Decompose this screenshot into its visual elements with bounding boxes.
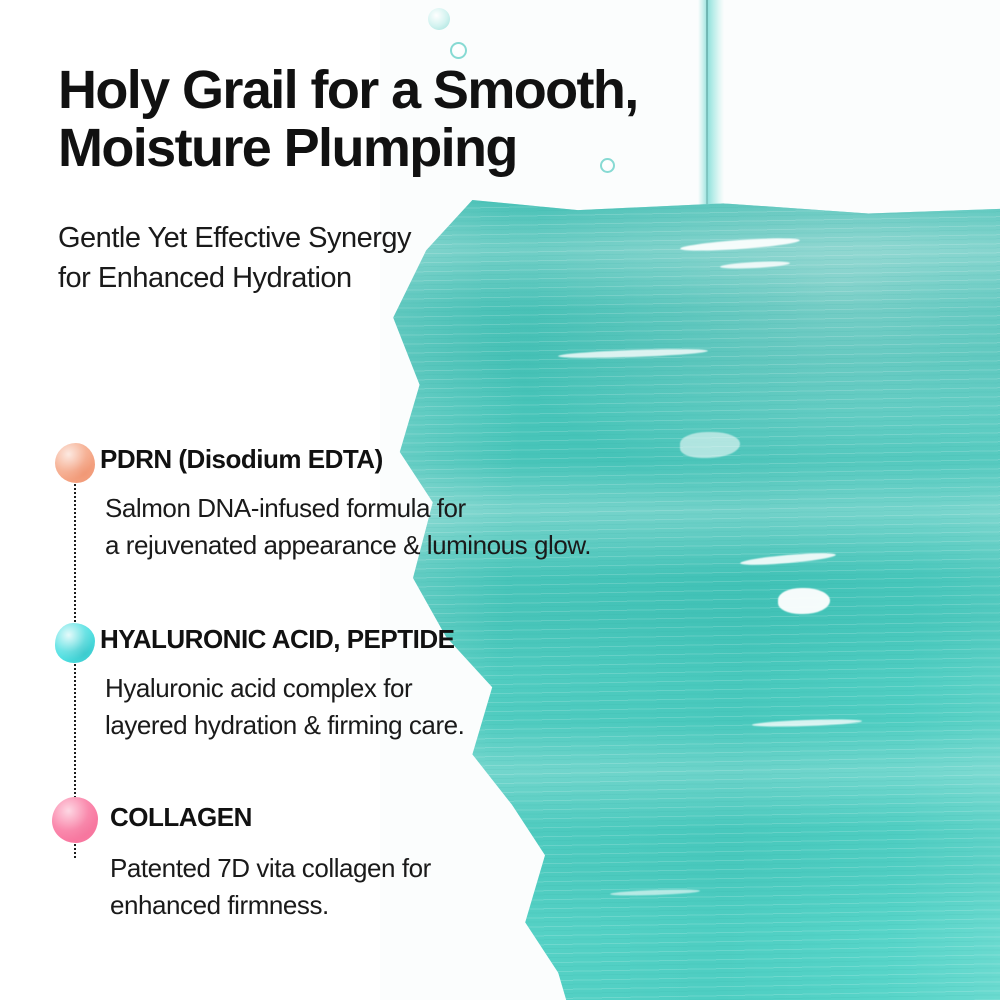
- ingredient-item-pdrn: PDRN (Disodium EDTA) Salmon DNA-infused …: [0, 440, 720, 620]
- ingredient-description: Salmon DNA-infused formula for a rejuven…: [105, 490, 725, 564]
- ingredient-description: Patented 7D vita collagen for enhanced f…: [110, 850, 730, 924]
- pink-blob-icon: [52, 797, 98, 843]
- headline-line-2: Moisture Plumping: [58, 120, 818, 178]
- ingredient-title: COLLAGEN: [110, 802, 252, 833]
- water-bubble: [450, 42, 467, 59]
- water-bubble: [428, 8, 450, 30]
- ingredient-description-line-1: Hyaluronic acid complex for: [105, 670, 725, 707]
- subheadline-line-1: Gentle Yet Effective Synergy: [58, 218, 578, 258]
- ingredient-description-line-2: layered hydration & firming care.: [105, 707, 725, 744]
- peach-blob-shape: [55, 443, 95, 483]
- ingredient-title: HYALURONIC ACID, PEPTIDE: [100, 624, 454, 655]
- ingredient-description-line-1: Patented 7D vita collagen for: [110, 850, 730, 887]
- headline-line-1: Holy Grail for a Smooth,: [58, 62, 818, 120]
- ingredient-item-collagen: COLLAGEN Patented 7D vita collagen for e…: [0, 800, 720, 970]
- ingredient-description-line-2: a rejuvenated appearance & luminous glow…: [105, 527, 725, 564]
- ingredient-list: PDRN (Disodium EDTA) Salmon DNA-infused …: [0, 440, 720, 970]
- subheadline: Gentle Yet Effective Synergy for Enhance…: [58, 218, 578, 298]
- ingredient-item-hyaluronic-acid-peptide: HYALURONIC ACID, PEPTIDE Hyaluronic acid…: [0, 620, 720, 800]
- aqua-blob-shape: [55, 623, 95, 663]
- pink-blob-shape: [52, 797, 98, 843]
- ingredient-title: PDRN (Disodium EDTA): [100, 444, 383, 475]
- ingredient-description-line-2: enhanced firmness.: [110, 887, 730, 924]
- ingredient-description: Hyaluronic acid complex for layered hydr…: [105, 670, 725, 744]
- ingredient-description-line-1: Salmon DNA-infused formula for: [105, 490, 725, 527]
- subheadline-line-2: for Enhanced Hydration: [58, 258, 578, 298]
- peach-blob-icon: [55, 443, 95, 483]
- aqua-blob-icon: [55, 623, 95, 663]
- promo-canvas: Holy Grail for a Smooth, Moisture Plumpi…: [0, 0, 1000, 1000]
- headline: Holy Grail for a Smooth, Moisture Plumpi…: [58, 62, 818, 178]
